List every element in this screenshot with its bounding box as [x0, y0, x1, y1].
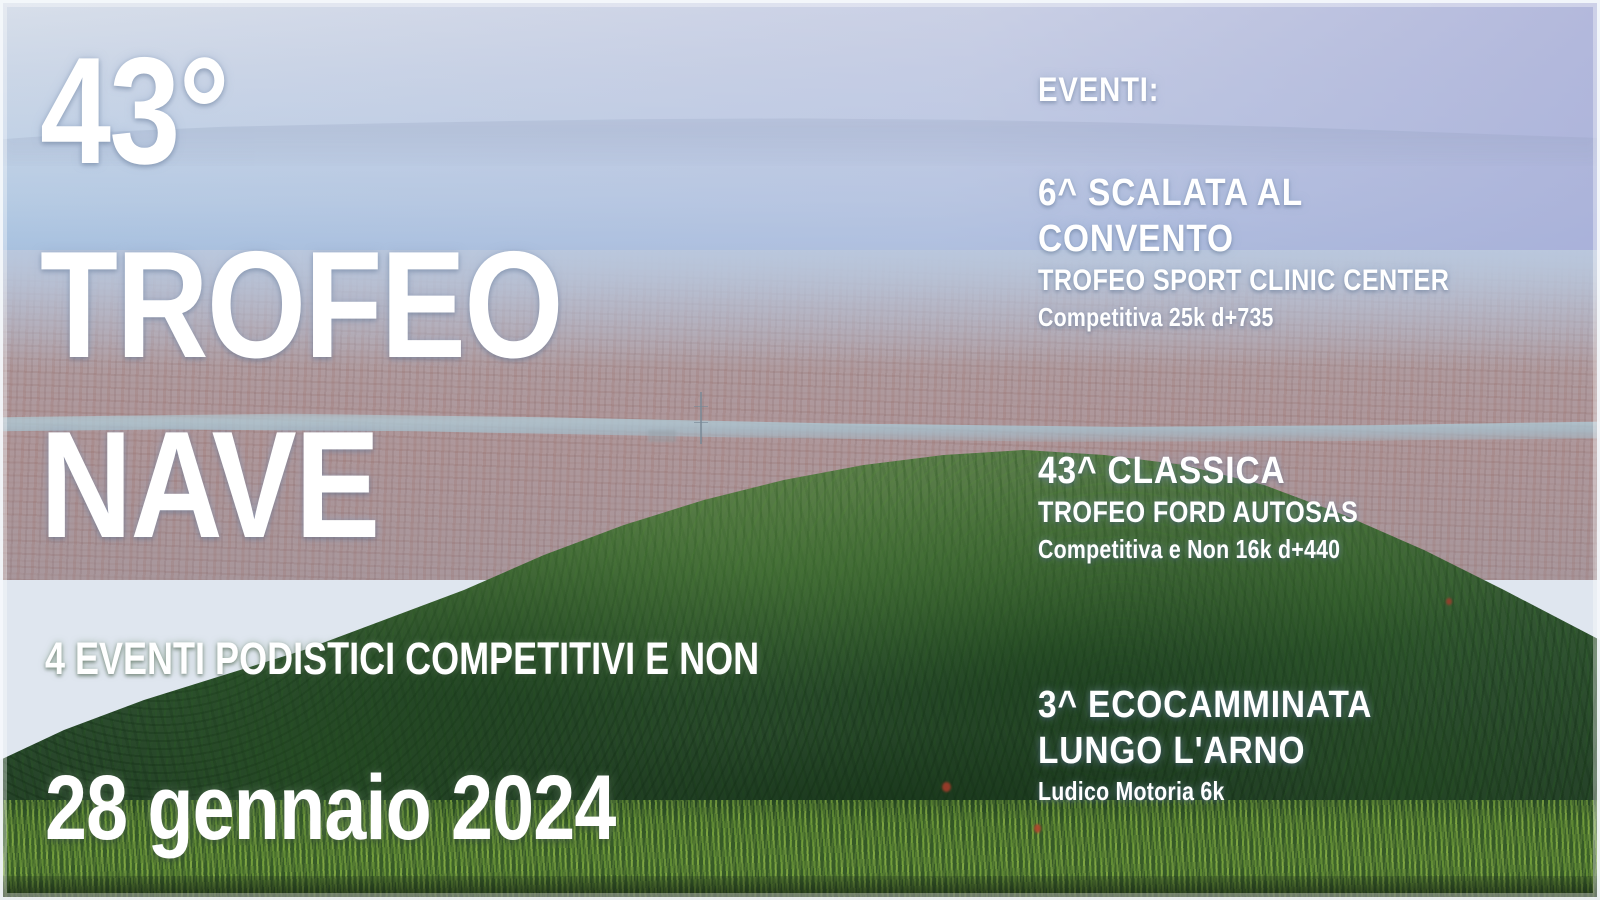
event-item-classica: 43^ CLASSICA TROFEO FORD AUTOSAS Competi… [1038, 448, 1419, 566]
event-sponsor: TROFEO SPORT CLINIC CENTER [1038, 262, 1449, 300]
poster-title-line-2: TROFEO [40, 230, 562, 380]
poster-text-overlay: 43° TROFEO NAVE 4 EVENTI PODISTICI COMPE… [0, 0, 1600, 900]
event-detail: Competitiva 25k d+735 [1038, 300, 1440, 334]
poster-title-line-1: 43° [40, 36, 228, 186]
event-detail: Ludico Motoria 6k [1038, 774, 1350, 808]
event-title-line-2: CONVENTO [1038, 216, 1469, 262]
event-title-line-1: 43^ CLASSICA [1038, 448, 1373, 494]
event-item-ecocamminata: 3^ ECOCAMMINATA LUNGO L'ARNO Ludico Moto… [1038, 682, 1418, 808]
event-sponsor: TROFEO FORD AUTOSAS [1038, 494, 1358, 532]
events-list: EVENTI: 6^ SCALATA AL CONVENTO TROFEO SP… [1038, 70, 1578, 110]
event-title-line-1: 3^ ECOCAMMINATA [1038, 682, 1372, 728]
event-item-scalata-al-convento: 6^ SCALATA AL CONVENTO TROFEO SPORT CLIN… [1038, 170, 1528, 334]
poster-event-date: 28 gennaio 2024 [45, 760, 616, 856]
poster-title-line-3: NAVE [40, 410, 379, 560]
poster-subtitle: 4 EVENTI PODISTICI COMPETITIVI E NON [45, 634, 759, 684]
event-poster: 43° TROFEO NAVE 4 EVENTI PODISTICI COMPE… [0, 0, 1600, 900]
event-detail: Competitiva e Non 16k d+440 [1038, 532, 1351, 566]
event-title-line-1: 6^ SCALATA AL [1038, 170, 1469, 216]
event-title-line-2: LUNGO L'ARNO [1038, 728, 1372, 774]
events-heading: EVENTI: [1038, 70, 1502, 110]
